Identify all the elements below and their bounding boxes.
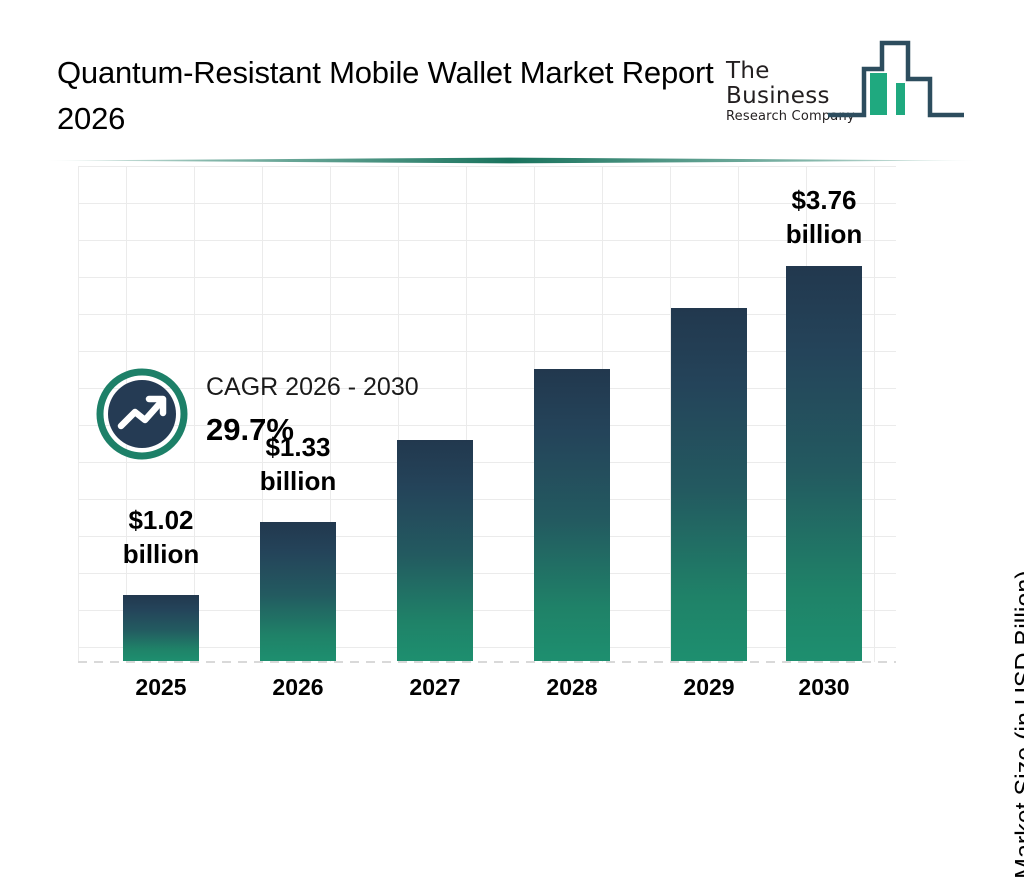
- axis-baseline: [78, 661, 896, 663]
- gridline-h: [78, 499, 896, 500]
- bar-value-unit-2030: billion: [749, 217, 899, 251]
- cagr-value: 29.7%: [206, 412, 294, 448]
- cagr-period-label: CAGR 2026 - 2030: [206, 373, 419, 402]
- bar-2030[interactable]: [786, 266, 862, 661]
- company-logo: The Business Research Company: [722, 33, 967, 133]
- page-title: Quantum-Resistant Mobile Wallet Market R…: [57, 50, 717, 142]
- bar-2028[interactable]: [534, 369, 610, 661]
- gridline-h: [78, 351, 896, 352]
- bar-value-unit-2025: billion: [86, 537, 236, 571]
- bar-value-amount-2025: $1.02: [86, 503, 236, 537]
- gridline-h: [78, 462, 896, 463]
- gridline-h: [78, 610, 896, 611]
- x-tick-2026: 2026: [228, 674, 368, 701]
- page-header: Quantum-Resistant Mobile Wallet Market R…: [0, 0, 1024, 152]
- bar-value-unit-2026: billion: [223, 464, 373, 498]
- bar-value-label-2030: $3.76 billion: [749, 183, 899, 251]
- x-tick-2027: 2027: [365, 674, 505, 701]
- trending-up-arrow-icon: [96, 368, 188, 460]
- x-tick-2025: 2025: [91, 674, 231, 701]
- cagr-badge: CAGR 2026 - 2030 29.7%: [96, 368, 516, 460]
- y-axis-label: Market Size (in USD Billion): [1010, 570, 1024, 878]
- gridline-h: [78, 314, 896, 315]
- skyline-bars-logo-icon: [826, 33, 966, 133]
- bar-value-amount-2030: $3.76: [749, 183, 899, 217]
- gridline-h: [78, 573, 896, 574]
- gridline-h: [78, 647, 896, 648]
- bar-value-label-2025: $1.02 billion: [86, 503, 236, 571]
- bar-2026[interactable]: [260, 522, 336, 661]
- bar-2025[interactable]: [123, 595, 199, 661]
- x-tick-2028: 2028: [502, 674, 642, 701]
- bar-chart: $1.02 billion $1.33 billion $3.76 billio…: [0, 166, 1024, 768]
- bar-2029[interactable]: [671, 308, 747, 661]
- header-divider: [46, 157, 976, 164]
- x-tick-2030: 2030: [754, 674, 894, 701]
- gridline-h: [78, 277, 896, 278]
- bar-2027[interactable]: [397, 440, 473, 661]
- gridline-h: [78, 166, 896, 167]
- gridline-v: [78, 166, 79, 662]
